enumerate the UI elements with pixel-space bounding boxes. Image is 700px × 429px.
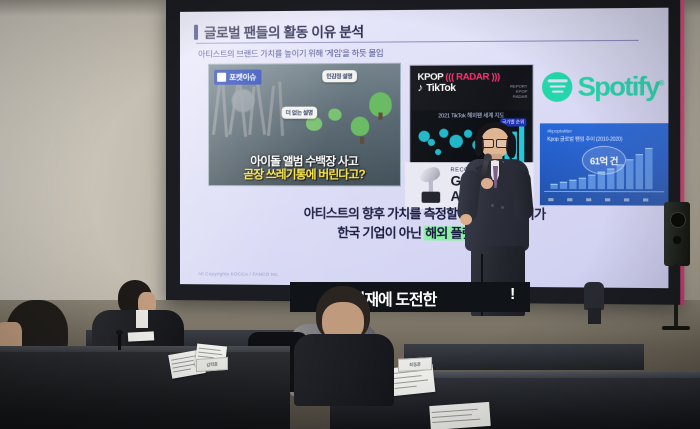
presenter-hand-right xyxy=(481,178,493,189)
news-headline-line1: 아이돌 앨범 수백장 사고 xyxy=(209,155,400,168)
news-headline-line2: 곧장 쓰레기통에 버린다고? xyxy=(209,168,400,181)
gramophone-trophy-icon xyxy=(417,168,444,205)
table-front xyxy=(0,352,290,429)
slide-body-text: 아티스트의 향후 가치를 측정할 수 있는 데이터가 한국 기업이 아닌 해외 … xyxy=(194,204,660,245)
desk-microphone-left xyxy=(118,334,121,350)
attendee-far-right xyxy=(582,276,608,324)
kpoptwitter-chart-card: #kpoptwitter Kpop 글로벌 팬덤 추이 (2010-2020) xyxy=(540,123,669,205)
spotify-wordmark-text: Spotify xyxy=(578,71,659,102)
news-callout-1: 민감정 설명 xyxy=(322,70,356,82)
tiktok-wordmark: TikTok xyxy=(426,83,455,94)
projection-screen: 글로벌 팬들의 활동 이유 분석 아티스트의 브랜드 가치를 높이기 위해 '게… xyxy=(166,0,681,305)
handout-paper-right-2 xyxy=(429,402,491,429)
body-line-2-pre: 한국 기업이 아닌 xyxy=(337,226,424,241)
slide-subtitle: 아티스트의 브랜드 가치를 높이기 위해 '게임'을 하듯 몰입 xyxy=(198,47,383,60)
tree-graphic xyxy=(369,92,392,116)
spotify-wordmark: Spotify® xyxy=(578,73,663,100)
slide-title: 글로벌 팬들의 활동 이유 분석 xyxy=(204,20,364,41)
body-line-1: 아티스트의 향후 가치를 측정할 수 있는 데이터가 xyxy=(194,204,660,225)
pa-speaker-stand xyxy=(674,264,678,328)
slide-title-row: 글로벌 팬들의 활동 이유 분석 xyxy=(194,20,364,41)
presenter-hand-left xyxy=(460,214,472,225)
kpop-radar-meta: REPORTKPOPRADAR xyxy=(510,84,527,99)
pa-speaker xyxy=(664,202,690,266)
table-back-right xyxy=(404,344,644,370)
fandom-metric-badge: 61억 건 xyxy=(582,146,626,175)
name-placard-right: 최동훈 xyxy=(398,357,432,372)
pa-speaker-tweeter xyxy=(673,236,681,244)
slide-copyright-footer: All Copyrights KOCCA / FANCO Inc. xyxy=(198,271,279,277)
body-line-2: 한국 기업이 아닌 해외 플랫폼 소유 xyxy=(194,223,660,245)
pa-speaker-cone xyxy=(670,212,686,228)
news-callout-2: 더 없는 설명 xyxy=(282,107,317,119)
chart-x-ticks xyxy=(544,193,664,202)
spotify-trademark: ® xyxy=(659,80,663,87)
news-badge-mark xyxy=(217,73,226,82)
title-accent-bar xyxy=(194,24,198,39)
kpop-word: KPOP xyxy=(417,71,443,82)
slide-media-row: 포켓이슈 민감정 설명 더 없는 설명 아이돌 앨범 수백장 사고 곧장 쓰레기… xyxy=(194,61,660,197)
wall-left-panel xyxy=(0,0,172,300)
glasses-icon xyxy=(482,139,508,146)
desk-notes-left xyxy=(128,331,154,341)
tiktok-logo-row: ♪ TikTok xyxy=(417,83,455,94)
attendee-front-center xyxy=(300,286,386,406)
slide-surface: 글로벌 팬들의 활동 이유 분석 아티스트의 브랜드 가치를 높이기 위해 '게… xyxy=(180,8,668,288)
name-placard-left: 김학종 xyxy=(196,357,228,372)
spotify-logo-block: Spotify® xyxy=(542,65,666,107)
presenter-arm-right xyxy=(511,169,534,220)
kpoptwitter-caption: Kpop 글로벌 팬덤 추이 (2010-2020) xyxy=(547,136,622,143)
radar-word: ((( RADAR ))) xyxy=(445,70,500,81)
screenshot-canvas: 글로벌 팬들의 활동 이유 분석 아티스트의 브랜드 가치를 높이기 위해 '게… xyxy=(0,0,700,429)
lower-third-exclaim: ! xyxy=(510,286,515,304)
news-headline: 아이돌 앨범 수백장 사고 곧장 쓰레기통에 버린다고? xyxy=(209,155,400,181)
news-badge-label: 포켓이슈 xyxy=(229,72,256,83)
news-screenshot-card: 포켓이슈 민감정 설명 더 없는 설명 아이돌 앨범 수백장 사고 곧장 쓰레기… xyxy=(208,63,401,187)
tree-graphic xyxy=(351,117,369,136)
kpop-radar-wordmark: KPOP ((( RADAR ))) xyxy=(417,70,499,82)
fandom-metric-value: 61억 건 xyxy=(590,154,618,167)
spotify-icon xyxy=(542,72,572,102)
news-badge: 포켓이슈 xyxy=(214,70,261,85)
music-note-icon: ♪ xyxy=(417,83,423,94)
kpoptwitter-hashtag: #kpoptwitter xyxy=(547,128,572,133)
pa-speaker-base xyxy=(662,326,690,330)
